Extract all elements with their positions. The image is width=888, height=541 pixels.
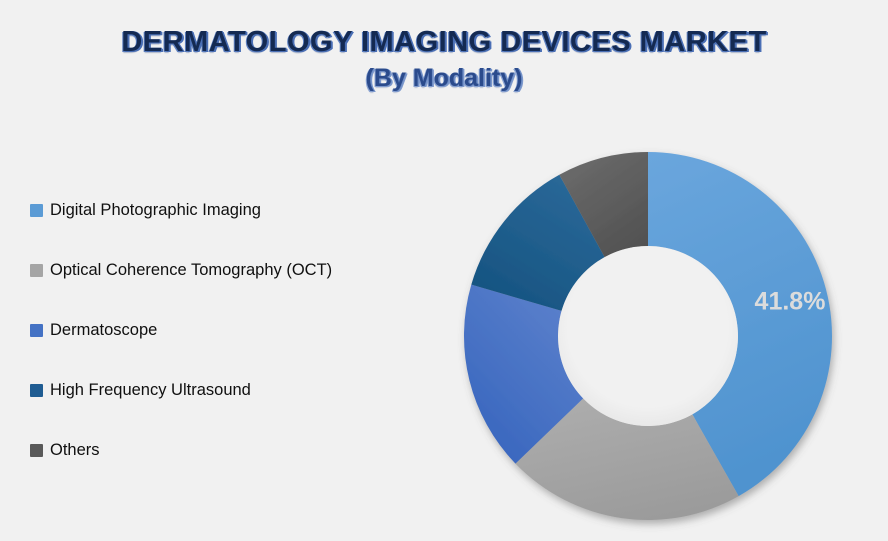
legend-item[interactable]: High Frequency Ultrasound	[30, 360, 450, 420]
legend-swatch-icon	[30, 324, 43, 337]
legend-item[interactable]: Optical Coherence Tomography (OCT)	[30, 240, 450, 300]
chart-legend: Digital Photographic ImagingOptical Cohe…	[30, 180, 450, 480]
donut-svg: 41.8%	[440, 130, 870, 540]
legend-swatch-icon	[30, 384, 43, 397]
slice-data-label: 41.8%	[755, 288, 826, 316]
donut-chart: 41.8%	[440, 130, 870, 540]
legend-item[interactable]: Digital Photographic Imaging	[30, 180, 450, 240]
title-block: DERMATOLOGY IMAGING DEVICES MARKET (By M…	[60, 26, 828, 92]
legend-item-label: Optical Coherence Tomography (OCT)	[50, 262, 332, 279]
legend-swatch-icon	[30, 444, 43, 457]
legend-item-label: Digital Photographic Imaging	[50, 202, 261, 219]
legend-item-label: High Frequency Ultrasound	[50, 382, 251, 399]
legend-item-label: Dermatoscope	[50, 322, 157, 339]
legend-item[interactable]: Others	[30, 420, 450, 480]
chart-canvas: DERMATOLOGY IMAGING DEVICES MARKET (By M…	[0, 0, 888, 541]
page-subtitle: (By Modality)	[60, 64, 828, 93]
legend-swatch-icon	[30, 204, 43, 217]
page-title: DERMATOLOGY IMAGING DEVICES MARKET	[60, 26, 828, 60]
legend-item-label: Others	[50, 442, 100, 459]
legend-swatch-icon	[30, 264, 43, 277]
legend-item[interactable]: Dermatoscope	[30, 300, 450, 360]
donut-hole	[558, 246, 738, 426]
